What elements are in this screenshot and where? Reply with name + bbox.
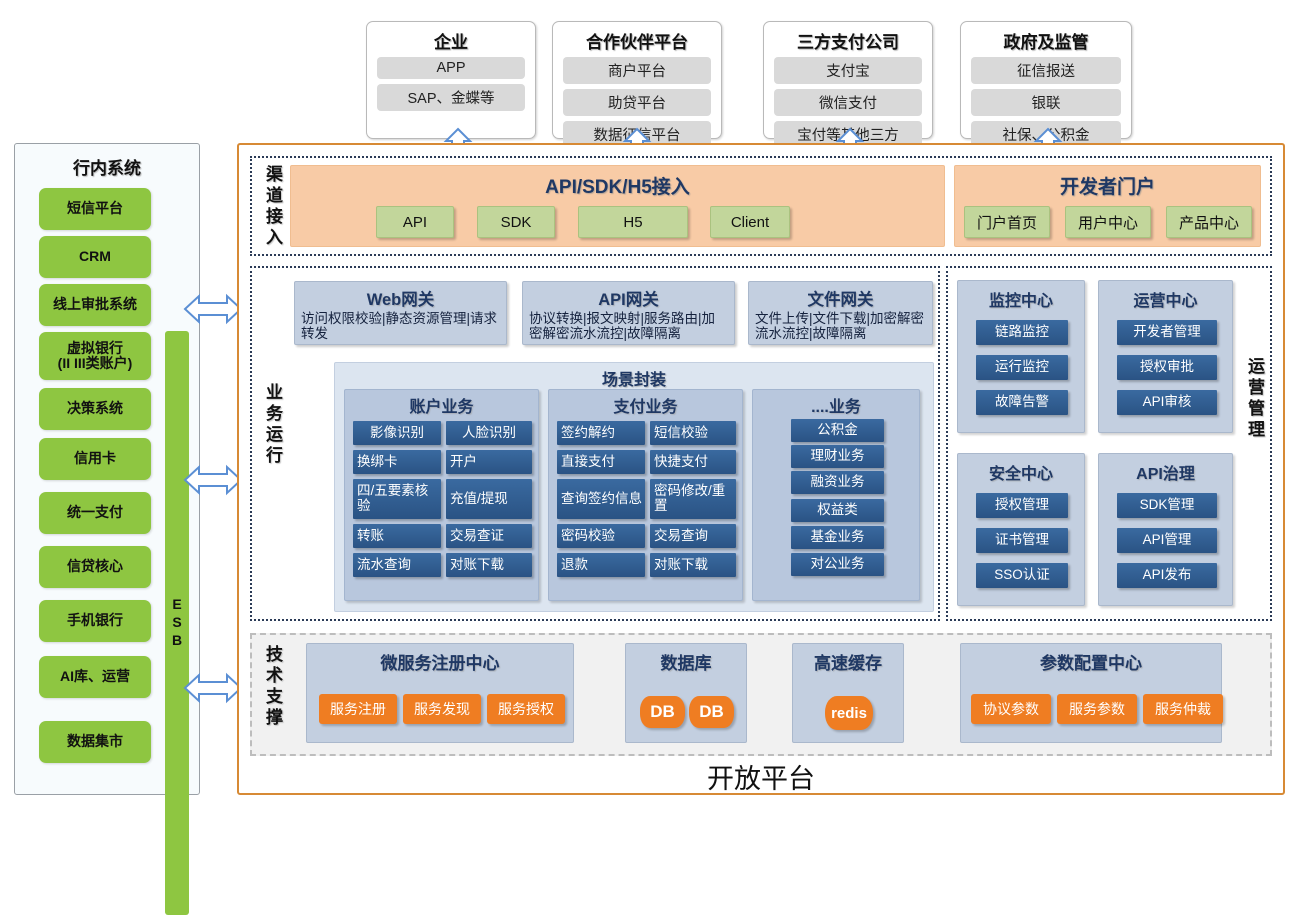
tech-item[interactable]: 服务注册 [319, 694, 397, 724]
tech-item[interactable]: 服务参数 [1057, 694, 1137, 724]
scenario-item[interactable]: 查询签约信息 [557, 479, 645, 519]
actor-item: 银联 [971, 89, 1121, 116]
scenario-encapsulation: 场景封装 账户业务 影像识别 人脸识别 换绑卡 开户 四/五要素核验 充值/提现… [334, 362, 934, 612]
gateway-title: Web网关 [301, 286, 500, 310]
internal-system-item[interactable]: 短信平台 [39, 188, 151, 230]
internal-system-item[interactable]: CRM [39, 236, 151, 278]
scenario-item[interactable]: 对账下载 [446, 553, 532, 577]
api-access-band: API/SDK/H5接入 API SDK H5 Client [290, 165, 945, 247]
actor-item: 微信支付 [774, 89, 922, 116]
tech-item-redis[interactable]: redis [825, 696, 873, 730]
scenario-item[interactable]: 快捷支付 [650, 450, 736, 474]
gateway-desc: 文件上传|文件下载|加密解密流水流控|故障隔离 [755, 311, 926, 341]
portal-tab-user-center[interactable]: 用户中心 [1065, 206, 1151, 238]
portal-tab-product-center[interactable]: 产品中心 [1166, 206, 1252, 238]
ops-card-title: 安全中心 [958, 454, 1084, 484]
scenario-item[interactable]: 退款 [557, 553, 645, 577]
scenario-column-title: 支付业务 [549, 390, 742, 417]
scenario-item[interactable]: 基金业务 [791, 526, 884, 549]
ops-card-monitoring: 监控中心 链路监控 运行监控 故障告警 [957, 280, 1085, 433]
esb-bus: ESB [165, 331, 189, 915]
internal-system-item[interactable]: 虚拟银行 (II III类账户) [39, 332, 151, 380]
actor-item: APP [377, 57, 525, 79]
ops-item[interactable]: 证书管理 [976, 528, 1068, 553]
tech-card-title: 参数配置中心 [961, 644, 1221, 674]
actor-item: 征信报送 [971, 57, 1121, 84]
ops-item[interactable]: SSO认证 [976, 563, 1068, 588]
scenario-item[interactable]: 密码修改/重置 [650, 479, 736, 519]
tech-card-database: 数据库 DB DB [625, 643, 747, 743]
tech-card-microservice-registry: 微服务注册中心 服务注册 服务发现 服务授权 [306, 643, 574, 743]
scenario-item[interactable]: 短信校验 [650, 421, 736, 445]
tech-card-title: 数据库 [626, 644, 746, 674]
scenario-column-title: 账户业务 [345, 390, 538, 417]
business-runtime-side-label: 业务运行 [257, 383, 285, 467]
gateway-web[interactable]: Web网关 访问权限校验|静态资源管理|请求转发 [294, 281, 507, 345]
tech-card-title: 高速缓存 [793, 644, 903, 674]
ops-card-title: 运营中心 [1099, 281, 1232, 311]
actor-item: 助贷平台 [563, 89, 711, 116]
scenario-item[interactable]: 签约解约 [557, 421, 645, 445]
internal-system-item[interactable]: 手机银行 [39, 600, 151, 642]
external-actor-government-regulator: 政府及监管 征信报送 银联 社保、公积金 [960, 21, 1132, 139]
internal-system-item[interactable]: 线上审批系统 [39, 284, 151, 326]
scenario-item[interactable]: 融资业务 [791, 471, 884, 494]
scenario-item[interactable]: 交易查证 [446, 524, 532, 548]
tech-item[interactable]: 服务仲裁 [1143, 694, 1223, 724]
scenario-item[interactable]: 人脸识别 [446, 421, 532, 445]
scenario-column-account: 账户业务 影像识别 人脸识别 换绑卡 开户 四/五要素核验 充值/提现 转账 交… [344, 389, 539, 601]
actor-title: 企业 [377, 28, 525, 53]
ops-item[interactable]: 链路监控 [976, 320, 1068, 345]
connector-arrow-esb-channel [184, 294, 242, 324]
internal-system-item[interactable]: 数据集市 [39, 721, 151, 763]
scenario-item[interactable]: 密码校验 [557, 524, 645, 548]
scenario-item[interactable]: 对公业务 [791, 553, 884, 576]
actor-title: 政府及监管 [971, 28, 1121, 53]
scenario-item[interactable]: 转账 [353, 524, 441, 548]
gateway-title: 文件网关 [755, 286, 926, 310]
tech-item[interactable]: 协议参数 [971, 694, 1051, 724]
tech-support-side-label: 技术支撑 [257, 645, 285, 729]
actor-item: SAP、金蝶等 [377, 84, 525, 111]
ops-card-title: API治理 [1099, 454, 1232, 484]
tech-item[interactable]: 服务发现 [403, 694, 481, 724]
scenario-item[interactable]: 影像识别 [353, 421, 441, 445]
external-actor-third-party-payment: 三方支付公司 支付宝 微信支付 宝付等其他三方 [763, 21, 933, 139]
portal-tab-home[interactable]: 门户首页 [964, 206, 1050, 238]
channel-access-side-label: 渠道接入 [257, 165, 285, 249]
gateway-desc: 协议转换|报文映射|服务路由|加密解密流水流控|故障隔离 [529, 311, 728, 341]
open-platform-frame: 渠道接入 API/SDK/H5接入 API SDK H5 Client 开发者门… [237, 143, 1285, 795]
actor-title: 合作伙伴平台 [563, 28, 711, 53]
gateway-api[interactable]: API网关 协议转换|报文映射|服务路由|加密解密流水流控|故障隔离 [522, 281, 735, 345]
ops-item[interactable]: 开发者管理 [1117, 320, 1217, 345]
scenario-item[interactable]: 四/五要素核验 [353, 479, 441, 519]
channel-tab-client[interactable]: Client [710, 206, 790, 238]
esb-label: ESB [169, 596, 185, 650]
external-actor-enterprise: 企业 APP SAP、金蝶等 [366, 21, 536, 139]
scenario-item[interactable]: 充值/提现 [446, 479, 532, 519]
scenario-item[interactable]: 交易查询 [650, 524, 736, 548]
ops-card-api-governance: API治理 SDK管理 API管理 API发布 [1098, 453, 1233, 606]
actor-item: 商户平台 [563, 57, 711, 84]
ops-item[interactable]: 授权管理 [976, 493, 1068, 518]
scenario-title: 场景封装 [335, 366, 933, 390]
platform-bottom-title: 开放平台 [237, 757, 1285, 796]
actor-item: 支付宝 [774, 57, 922, 84]
connector-arrow-esb-business [184, 465, 242, 495]
tech-item[interactable]: 服务授权 [487, 694, 565, 724]
scenario-item[interactable]: 权益类 [791, 499, 884, 522]
scenario-column-title: ....业务 [753, 390, 919, 417]
scenario-item[interactable]: 流水查询 [353, 553, 441, 577]
tech-card-config-center: 参数配置中心 协议参数 服务参数 服务仲裁 [960, 643, 1222, 743]
scenario-item[interactable]: 公积金 [791, 419, 884, 442]
operations-management-side-label: 运营管理 [1239, 357, 1267, 441]
internal-system-item[interactable]: 统一支付 [39, 492, 151, 534]
internal-systems-title: 行内系统 [15, 154, 199, 179]
developer-portal-title: 开发者门户 [955, 172, 1260, 199]
api-access-title: API/SDK/H5接入 [291, 172, 944, 199]
gateway-desc: 访问权限校验|静态资源管理|请求转发 [301, 311, 500, 341]
internal-system-item[interactable]: AI库、运营 [39, 656, 151, 698]
internal-system-item[interactable]: 信用卡 [39, 438, 151, 480]
ops-card-operations: 运营中心 开发者管理 授权审批 API审核 [1098, 280, 1233, 433]
scenario-item[interactable]: 换绑卡 [353, 450, 441, 474]
tech-item-db[interactable]: DB [689, 696, 734, 728]
scenario-item[interactable]: 直接支付 [557, 450, 645, 474]
channel-tab-h5[interactable]: H5 [578, 206, 688, 238]
internal-system-item[interactable]: 决策系统 [39, 388, 151, 430]
ops-card-security: 安全中心 授权管理 证书管理 SSO认证 [957, 453, 1085, 606]
actor-title: 三方支付公司 [774, 28, 922, 53]
external-actor-partner-platform: 合作伙伴平台 商户平台 助贷平台 数据征信平台 [552, 21, 722, 139]
scenario-column-other: ....业务 公积金 理财业务 融资业务 权益类 基金业务 对公业务 [752, 389, 920, 601]
ops-item[interactable]: 故障告警 [976, 390, 1068, 415]
channel-tab-sdk[interactable]: SDK [477, 206, 555, 238]
ops-item[interactable]: 授权审批 [1117, 355, 1217, 380]
ops-item[interactable]: SDK管理 [1117, 493, 1217, 518]
ops-card-title: 监控中心 [958, 281, 1084, 311]
scenario-item[interactable]: 开户 [446, 450, 532, 474]
ops-item[interactable]: API发布 [1117, 563, 1217, 588]
scenario-column-payment: 支付业务 签约解约 短信校验 直接支付 快捷支付 查询签约信息 密码修改/重置 … [548, 389, 743, 601]
channel-tab-api[interactable]: API [376, 206, 454, 238]
tech-card-title: 微服务注册中心 [307, 644, 573, 674]
ops-item[interactable]: 运行监控 [976, 355, 1068, 380]
scenario-item[interactable]: 对账下载 [650, 553, 736, 577]
diagram-root: 企业 APP SAP、金蝶等 合作伙伴平台 商户平台 助贷平台 数据征信平台 三… [0, 0, 1299, 799]
ops-item[interactable]: API审核 [1117, 390, 1217, 415]
gateway-title: API网关 [529, 286, 728, 310]
ops-item[interactable]: API管理 [1117, 528, 1217, 553]
internal-system-item[interactable]: 信贷核心 [39, 546, 151, 588]
connector-arrow-esb-tech [184, 673, 242, 703]
tech-card-cache: 高速缓存 redis [792, 643, 904, 743]
developer-portal-band: 开发者门户 门户首页 用户中心 产品中心 [954, 165, 1261, 247]
scenario-item[interactable]: 理财业务 [791, 445, 884, 468]
internal-systems-panel: 行内系统 短信平台 CRM 线上审批系统 虚拟银行 (II III类账户) 决策… [14, 143, 200, 795]
tech-item-db[interactable]: DB [640, 696, 685, 728]
gateway-file[interactable]: 文件网关 文件上传|文件下载|加密解密流水流控|故障隔离 [748, 281, 933, 345]
